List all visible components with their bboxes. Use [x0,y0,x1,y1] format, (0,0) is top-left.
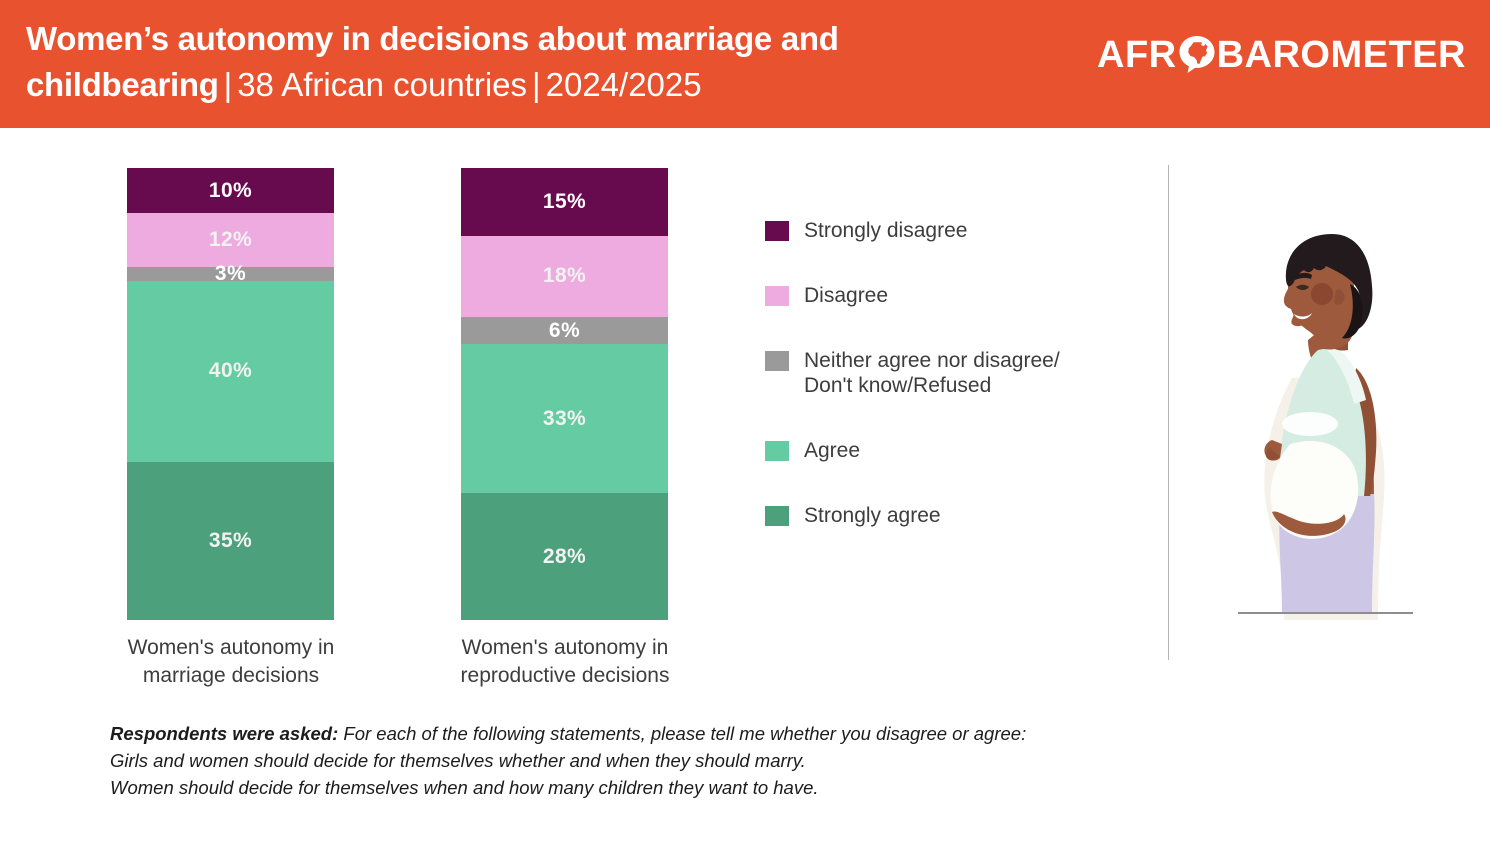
legend-swatch-icon [765,506,789,526]
segment-strongly-agree[interactable]: 28% [461,493,668,620]
chart-legend: Strongly disagree Disagree Neither agree… [765,218,1155,568]
category-label-line-2: marriage decisions [92,662,370,690]
category-label-line-1: Women's autonomy in [426,634,704,662]
legend-item-neither-agree-nor-disagree[interactable]: Neither agree nor disagree/ Don't know/R… [765,348,1155,398]
logo-wordmark: AFRBAROMETER [1097,34,1466,75]
segment-strongly-disagree[interactable]: 10% [127,168,334,213]
page-title-scope: 38 African countries [237,66,527,103]
segment-agree[interactable]: 40% [127,281,334,462]
footnote-question-text: Respondents were asked: For each of the … [110,720,1310,801]
segment-value-label: 18% [543,264,586,288]
legend-label: Disagree [804,283,888,308]
bar-group-reproductive-decisions: 15% 18% 6% 33% 28% Women's autonomy in r… [461,168,704,690]
legend-swatch-icon [765,351,789,371]
logo-text-afr: AFR [1097,34,1177,76]
segment-disagree[interactable]: 18% [461,236,668,317]
vertical-divider [1168,165,1169,660]
segment-value-label: 33% [543,407,586,431]
stacked-bar-reproductive-decisions: 15% 18% 6% 33% 28% [461,168,668,620]
page-header: Women’s autonomy in decisions about marr… [0,0,1490,128]
footnote-line-3: Women should decide for themselves when … [110,774,1310,801]
category-label-line-2: reproductive decisions [426,662,704,690]
footnote-line-2: Girls and women should decide for themse… [110,747,1310,774]
legend-swatch-icon [765,441,789,461]
segment-disagree[interactable]: 12% [127,213,334,267]
logo-africa-speech-bubble-icon [1177,34,1217,74]
segment-value-label: 6% [549,319,580,343]
legend-item-strongly-disagree[interactable]: Strongly disagree [765,218,1155,243]
pregnant-woman-illustration [1232,228,1422,620]
segment-value-label: 35% [209,529,252,553]
footnote-lead-label: Respondents were asked: [110,723,338,744]
footnote-prompt: For each of the following statements, pl… [338,723,1026,744]
title-separator-2: | [527,66,546,103]
legend-swatch-icon [765,221,789,241]
segment-agree[interactable]: 33% [461,344,668,493]
illustration-ground-line [1238,612,1413,614]
afrobarometer-logo: AFRBAROMETER [1097,30,1466,78]
segment-neither-agree-nor-disagree[interactable]: 6% [461,317,668,344]
segment-value-label: 15% [543,190,586,214]
legend-item-agree[interactable]: Agree [765,438,1155,463]
segment-strongly-agree[interactable]: 35% [127,462,334,620]
bar-category-label-marriage: Women's autonomy in marriage decisions [92,634,370,690]
bar-group-marriage-decisions: 10% 12% 3% 40% 35% Women's autonomy in m… [127,168,370,690]
segment-value-label: 12% [209,228,252,252]
bar-category-label-reproductive: Women's autonomy in reproductive decisio… [426,634,704,690]
legend-label: Agree [804,438,860,463]
segment-strongly-disagree[interactable]: 15% [461,168,668,236]
legend-item-strongly-agree[interactable]: Strongly agree [765,503,1155,528]
legend-label: Strongly disagree [804,218,967,243]
legend-label: Strongly agree [804,503,941,528]
legend-item-disagree[interactable]: Disagree [765,283,1155,308]
segment-value-label: 10% [209,179,252,203]
segment-value-label: 28% [543,545,586,569]
legend-swatch-icon [765,286,789,306]
stacked-bar-marriage-decisions: 10% 12% 3% 40% 35% [127,168,334,620]
segment-neither-agree-nor-disagree[interactable]: 3% [127,267,334,281]
legend-label: Neither agree nor disagree/ Don't know/R… [804,348,1060,398]
page-title: Women’s autonomy in decisions about marr… [26,16,1006,108]
segment-value-label: 40% [209,359,252,383]
logo-text-barometer: BAROMETER [1217,34,1466,76]
footnote-line-1: Respondents were asked: For each of the … [110,720,1310,747]
category-label-line-1: Women's autonomy in [92,634,370,662]
page-title-period: 2024/2025 [546,66,702,103]
title-separator-1: | [219,66,238,103]
